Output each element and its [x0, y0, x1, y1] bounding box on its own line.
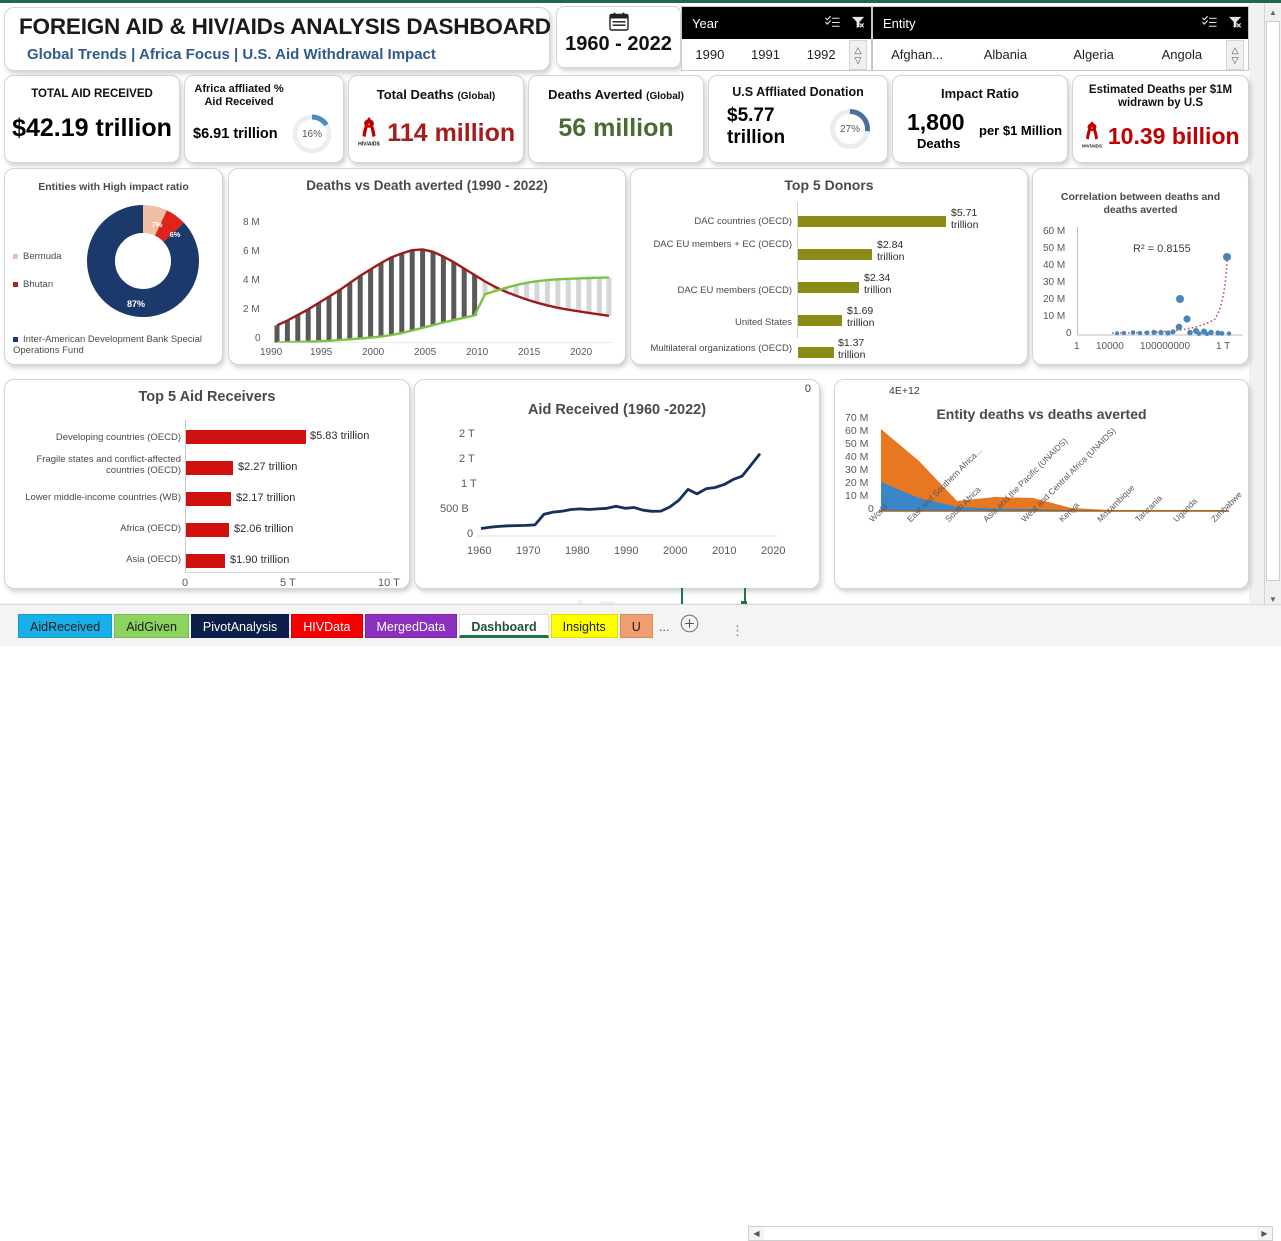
- donors-category-2: DAC EU members (OECD): [637, 285, 792, 296]
- corr-x-tick-1: 1: [1074, 341, 1080, 352]
- deaths-vs-plot: [273, 215, 613, 343]
- kpi-usdonation-value: $5.77 trillion: [727, 105, 807, 149]
- receivers-axis-baseline: [185, 572, 391, 573]
- receivers-value-1: $2.27 trillion: [238, 462, 297, 474]
- corr-y-tick-20m: 20 M: [1043, 294, 1065, 305]
- receivers-x-tick-10t: 10 T: [378, 577, 400, 589]
- sheet-tab-hivdata[interactable]: HIVData: [291, 614, 362, 638]
- kpi-total-aid-value: $42.19 trillion: [5, 114, 179, 143]
- multi-select-icon[interactable]: [1196, 15, 1222, 32]
- page-subtitle: Global Trends | Africa Focus | U.S. Aid …: [27, 46, 436, 63]
- chart-aid-received: 0 Aid Received (1960 -2022) 2 T 2 T 1 T …: [414, 379, 820, 589]
- aid-x-tick-2020: 2020: [761, 545, 785, 557]
- y-tick-8m: 8 M: [243, 217, 260, 228]
- corr-y-tick-50m: 50 M: [1043, 243, 1065, 254]
- kpi-averted-value: 56 million: [529, 114, 703, 143]
- x-tick-2005: 2005: [414, 347, 436, 358]
- chart-top-5-donors: Top 5 Donors DAC countries (OECD) $5.71 …: [630, 168, 1028, 365]
- entity-y-tick-60m: 60 M: [845, 425, 868, 437]
- kpi-africa-label: Africa affliated % Aid Received: [187, 83, 291, 109]
- sheet-tab-aidreceived[interactable]: AidReceived: [18, 614, 112, 638]
- legend-swatch-bhutan: [13, 282, 18, 287]
- excel-worksheet-root: FOREIGN AID & HIV/AIDs ANALYSIS DASHBOAR…: [0, 0, 1281, 646]
- kpi-africa-value: $6.91 trillion: [193, 126, 278, 142]
- receivers-bar-2: [186, 492, 231, 506]
- aid-x-tick-1980: 1980: [565, 545, 589, 557]
- corr-y-tick-10m: 10 M: [1043, 311, 1065, 322]
- hiv-ribbon-icon: HIV/AIDS: [1081, 118, 1103, 155]
- donors-category-3: United States: [637, 317, 792, 328]
- slicer-entity-scroll-spinner[interactable]: △▽: [1226, 40, 1244, 70]
- kpi-estdeaths-value: 10.39 billion: [1108, 123, 1240, 149]
- kpi-africa-affiliated-pct: Africa affliated % Aid Received $6.91 tr…: [184, 75, 344, 163]
- donors-category-4: Multilateral organizations (OECD): [637, 343, 792, 354]
- kpi-deaths-value: 114 million: [387, 119, 515, 147]
- kpi-estdeaths-value-row: HIV/AIDS 10.39 billion: [1073, 118, 1248, 155]
- vertical-scrollbar[interactable]: ▲ ▼ ▶: [1264, 3, 1281, 625]
- sheet-tab-dashboard[interactable]: Dashboard: [459, 614, 548, 638]
- scroll-right-icon[interactable]: ▶: [1257, 1227, 1272, 1240]
- sheet-tab-u[interactable]: U: [620, 614, 653, 638]
- slicer-entity[interactable]: Entity Afghan... Albania: [872, 6, 1249, 71]
- dashboard-canvas: FOREIGN AID & HIV/AIDs ANALYSIS DASHBOAR…: [0, 3, 1249, 603]
- svg-text:HIV/AIDS: HIV/AIDS: [358, 142, 380, 148]
- donors-value-0: $5.71 trillion: [951, 208, 997, 231]
- kpi-deaths-label-row: Total Deaths (Global): [353, 88, 519, 103]
- chart-correlation-deaths-averted: Correlation between deaths and deaths av…: [1032, 168, 1249, 365]
- slicer-year-items[interactable]: 1990 1991 1992 △▽: [682, 39, 871, 70]
- kpi-impact-value-note: per $1 Million: [979, 123, 1062, 138]
- receivers-value-3: $2.06 trillion: [234, 524, 293, 536]
- donors-bar-0: [798, 216, 946, 227]
- chart-aid-line-title: Aid Received (1960 -2022): [421, 402, 813, 418]
- entity-area-x-labels: World East and Southern Africa... South …: [857, 515, 1247, 577]
- slicer-entity-header: Entity: [873, 7, 1248, 39]
- kpi-deaths-label: Total Deaths: [377, 87, 454, 102]
- legend-item-bhutan: Bhutan: [13, 279, 53, 290]
- legend-label-bermuda: Bermuda: [23, 251, 62, 262]
- donors-category-1: DAC EU members + EC (OECD): [637, 239, 792, 250]
- sheet-tab-pivotanalysis[interactable]: PivotAnalysis: [191, 614, 289, 638]
- y-tick-6m: 6 M: [243, 246, 260, 257]
- more-options-icon[interactable]: ⋮: [731, 623, 744, 639]
- kpi-averted-label-suffix: (Global): [646, 91, 684, 102]
- legend-swatch-bermuda: [13, 254, 18, 259]
- horizontal-scroll-track[interactable]: [764, 1227, 1257, 1240]
- chart-entities-high-impact-ratio: Entities with High impact ratio 87% 7% 6…: [4, 168, 223, 365]
- entity-y-tick-20m: 20 M: [845, 477, 868, 489]
- donors-bar-3: [798, 315, 842, 326]
- kpi-total-aid-received: TOTAL AID RECEIVED $42.19 trillion: [4, 75, 180, 163]
- donors-value-4: $1.37 trillion: [838, 338, 884, 361]
- hiv-ribbon-icon: HIV/AIDS: [357, 114, 381, 153]
- donors-value-2: $2.34 trillion: [864, 273, 910, 296]
- kpi-usdonation-label: U.S Affliated Donation: [713, 86, 883, 99]
- receivers-bar-3: [186, 523, 229, 537]
- receivers-category-4: Asia (OECD): [11, 554, 181, 565]
- sheet-tab-insights[interactable]: Insights: [551, 614, 618, 638]
- legend-swatch-iadb: [13, 337, 18, 342]
- corr-y-tick-40m: 40 M: [1043, 260, 1065, 271]
- svg-text:HIV/AIDS: HIV/AIDS: [1083, 143, 1103, 148]
- clear-filter-icon[interactable]: [1222, 15, 1248, 32]
- slicer-year-header: Year: [682, 7, 871, 39]
- dashboard-title-card: FOREIGN AID & HIV/AIDs ANALYSIS DASHBOAR…: [4, 7, 550, 71]
- date-range-value: 1960 - 2022: [557, 33, 680, 56]
- receivers-category-3: Africa (OECD): [11, 523, 181, 534]
- slicer-year-title: Year: [692, 16, 819, 31]
- kpi-estimated-deaths-per-1m: Estimated Deaths per $1M widrawn by U.S …: [1072, 75, 1249, 163]
- kpi-usdonation-gauge: 27%: [827, 106, 873, 152]
- svg-text:7%: 7%: [152, 220, 163, 229]
- aid-x-tick-1970: 1970: [516, 545, 540, 557]
- aid-y-tick-1t: 1 T: [461, 478, 477, 490]
- chart-receivers-title: Top 5 Aid Receivers: [11, 389, 403, 405]
- x-tick-1995: 1995: [310, 347, 332, 358]
- legend-item-bermuda: Bermuda: [13, 251, 62, 262]
- y-tick-0: 0: [255, 333, 261, 344]
- kpi-deaths-value-row: HIV/AIDS 114 million: [349, 114, 523, 153]
- x-tick-2010: 2010: [466, 347, 488, 358]
- slicer-year-item-2[interactable]: 1992: [793, 47, 849, 62]
- slicer-entity-item-2[interactable]: Algeria: [1050, 47, 1138, 62]
- aid-y-tick-2t-b: 2 T: [459, 428, 475, 440]
- donors-bar-4: [798, 347, 834, 358]
- receivers-x-tick-5t: 5 T: [280, 577, 296, 589]
- receivers-value-0: $5.83 trillion: [310, 431, 369, 443]
- x-tick-2015: 2015: [518, 347, 540, 358]
- x-tick-1990: 1990: [260, 347, 282, 358]
- scroll-left-icon[interactable]: ◀: [749, 1227, 764, 1240]
- chart-correlation-title: Correlation between deaths and deaths av…: [1049, 191, 1232, 217]
- chart-deaths-vs-title: Deaths vs Death averted (1990 - 2022): [235, 178, 619, 193]
- y-tick-2m: 2 M: [243, 304, 260, 315]
- chart-donors-title: Top 5 Donors: [637, 177, 1021, 193]
- chart-top-5-aid-receivers: Top 5 Aid Receivers Developing countries…: [4, 379, 410, 589]
- kpi-deaths-averted-global: Deaths Averted (Global) 56 million: [528, 75, 704, 163]
- slicer-entity-item-1[interactable]: Albania: [961, 47, 1049, 62]
- corr-y-tick-30m: 30 M: [1043, 277, 1065, 288]
- receivers-bar-4: [186, 554, 225, 568]
- donors-value-1: $2.84 trillion: [877, 240, 923, 263]
- corr-y-tick-0: 0: [1066, 328, 1072, 339]
- aid-received-plot: [477, 432, 785, 538]
- receivers-x-tick-0: 0: [182, 577, 188, 589]
- kpi-usdonation-gauge-pct: 27%: [827, 106, 873, 152]
- slicer-year[interactable]: Year 1990 1991 19: [681, 6, 872, 71]
- kpi-africa-gauge-pct: 16%: [290, 112, 334, 156]
- donors-value-3: $1.69 trillion: [847, 306, 893, 329]
- kpi-africa-gauge: 16%: [290, 112, 334, 156]
- correlation-r2-annotation: R² = 0.8155: [1133, 243, 1191, 255]
- aid-x-tick-1990: 1990: [614, 545, 638, 557]
- slicer-entity-title: Entity: [883, 16, 1196, 31]
- corr-y-tick-60m: 60 M: [1043, 226, 1065, 237]
- donors-bar-2: [798, 282, 859, 293]
- slicer-year-item-0[interactable]: 1990: [682, 47, 738, 62]
- chart-impact-ratio-title: Entities with High impact ratio: [11, 181, 216, 193]
- entity-area-corner-label: 4E+12: [889, 385, 920, 397]
- kpi-estdeaths-label: Estimated Deaths per $1M widrawn by U.S: [1081, 84, 1240, 110]
- receivers-value-2: $2.17 trillion: [236, 493, 295, 505]
- kpi-deaths-label-suffix: (Global): [457, 91, 495, 102]
- svg-text:6%: 6%: [170, 230, 181, 239]
- entity-y-tick-30m: 30 M: [845, 464, 868, 476]
- entity-y-tick-10m: 10 M: [845, 490, 868, 502]
- legend-item-iadb: Inter-American Development Bank Special …: [13, 334, 213, 356]
- svg-text:87%: 87%: [127, 299, 145, 309]
- sheet-tab-aidgiven[interactable]: AidGiven: [114, 614, 189, 638]
- sheet-tab-bar: AidReceived AidGiven PivotAnalysis HIVDa…: [0, 604, 1281, 646]
- corr-x-tick-100000000: 100000000: [1140, 341, 1190, 352]
- receivers-value-4: $1.90 trillion: [230, 555, 289, 567]
- x-tick-2020: 2020: [570, 347, 592, 358]
- entity-y-tick-50m: 50 M: [845, 438, 868, 450]
- vertical-scroll-thumb[interactable]: [1266, 21, 1280, 581]
- aid-x-tick-1960: 1960: [467, 545, 491, 557]
- sheet-tab-mergeddata[interactable]: MergedData: [365, 614, 458, 638]
- slicer-entity-item-3[interactable]: Angola: [1138, 47, 1226, 62]
- kpi-averted-label-row: Deaths Averted (Global): [533, 88, 699, 103]
- kpi-averted-label: Deaths Averted: [548, 87, 642, 102]
- add-sheet-icon[interactable]: [680, 614, 699, 638]
- kpi-impact-label: Impact Ratio: [897, 87, 1063, 100]
- legend-label-iadb: Inter-American Development Bank Special …: [13, 334, 202, 356]
- aid-line-corner-label: 0: [805, 383, 811, 395]
- donors-category-0: DAC countries (OECD): [637, 216, 792, 227]
- corr-x-tick-1t: 1 T: [1216, 341, 1230, 352]
- x-tick-2000: 2000: [362, 347, 384, 358]
- sheet-tabs: AidReceived AidGiven PivotAnalysis HIVDa…: [18, 614, 699, 638]
- kpi-impact-value: 1,800: [907, 109, 965, 136]
- multi-select-icon[interactable]: [819, 15, 845, 32]
- kpi-us-affiliated-donation: U.S Affliated Donation $5.77 trillion 27…: [708, 75, 888, 163]
- chart-entity-deaths-vs-averted: 4E+12 Entity deaths vs deaths averted 70…: [834, 379, 1249, 589]
- receivers-category-1: Fragile states and conflict-affected cou…: [9, 454, 181, 476]
- entity-y-tick-70m: 70 M: [845, 412, 868, 424]
- date-range-card: 1960 - 2022: [556, 6, 681, 68]
- donors-bar-1: [798, 249, 872, 260]
- sheet-tabs-overflow-ellipsis[interactable]: ...: [655, 616, 674, 637]
- legend-label-bhutan: Bhutan: [23, 279, 53, 290]
- corr-x-tick-10000: 10000: [1096, 341, 1124, 352]
- receivers-bar-0: [186, 430, 306, 444]
- aid-y-tick-500b: 500 B: [440, 503, 469, 515]
- aid-x-tick-2000: 2000: [663, 545, 687, 557]
- aid-y-tick-2t-a: 2 T: [459, 453, 475, 465]
- scroll-up-icon[interactable]: ▲: [1265, 4, 1281, 20]
- horizontal-scrollbar[interactable]: ◀ ▶: [748, 1226, 1273, 1241]
- receivers-bar-1: [186, 461, 233, 475]
- receivers-category-0: Developing countries (OECD): [11, 432, 181, 443]
- slicer-year-scroll-spinner[interactable]: △▽: [849, 40, 867, 70]
- receivers-category-2: Lower middle-income countries (WB): [11, 492, 181, 503]
- slicer-entity-item-0[interactable]: Afghan...: [873, 47, 961, 62]
- entity-y-tick-40m: 40 M: [845, 451, 868, 463]
- page-title: FOREIGN AID & HIV/AIDs ANALYSIS DASHBOAR…: [19, 14, 551, 40]
- kpi-total-aid-label: TOTAL AID RECEIVED: [9, 88, 175, 101]
- kpi-impact-ratio: Impact Ratio 1,800 Deaths per $1 Million: [892, 75, 1068, 163]
- aid-y-tick-0: 0: [467, 528, 473, 540]
- kpi-total-deaths-global: Total Deaths (Global) HIV/AIDS 114 milli…: [348, 75, 524, 163]
- y-tick-4m: 4 M: [243, 275, 260, 286]
- clear-filter-icon[interactable]: [845, 15, 871, 32]
- kpi-impact-value-sub: Deaths: [917, 136, 960, 151]
- slicer-entity-items[interactable]: Afghan... Albania Algeria Angola △▽: [873, 39, 1248, 70]
- chart-deaths-vs-deaths-averted: Deaths vs Death averted (1990 - 2022) 8 …: [228, 168, 626, 365]
- slicer-year-item-1[interactable]: 1991: [738, 47, 794, 62]
- donut-graphic: 87% 7% 6%: [83, 201, 203, 321]
- aid-x-tick-2010: 2010: [712, 545, 736, 557]
